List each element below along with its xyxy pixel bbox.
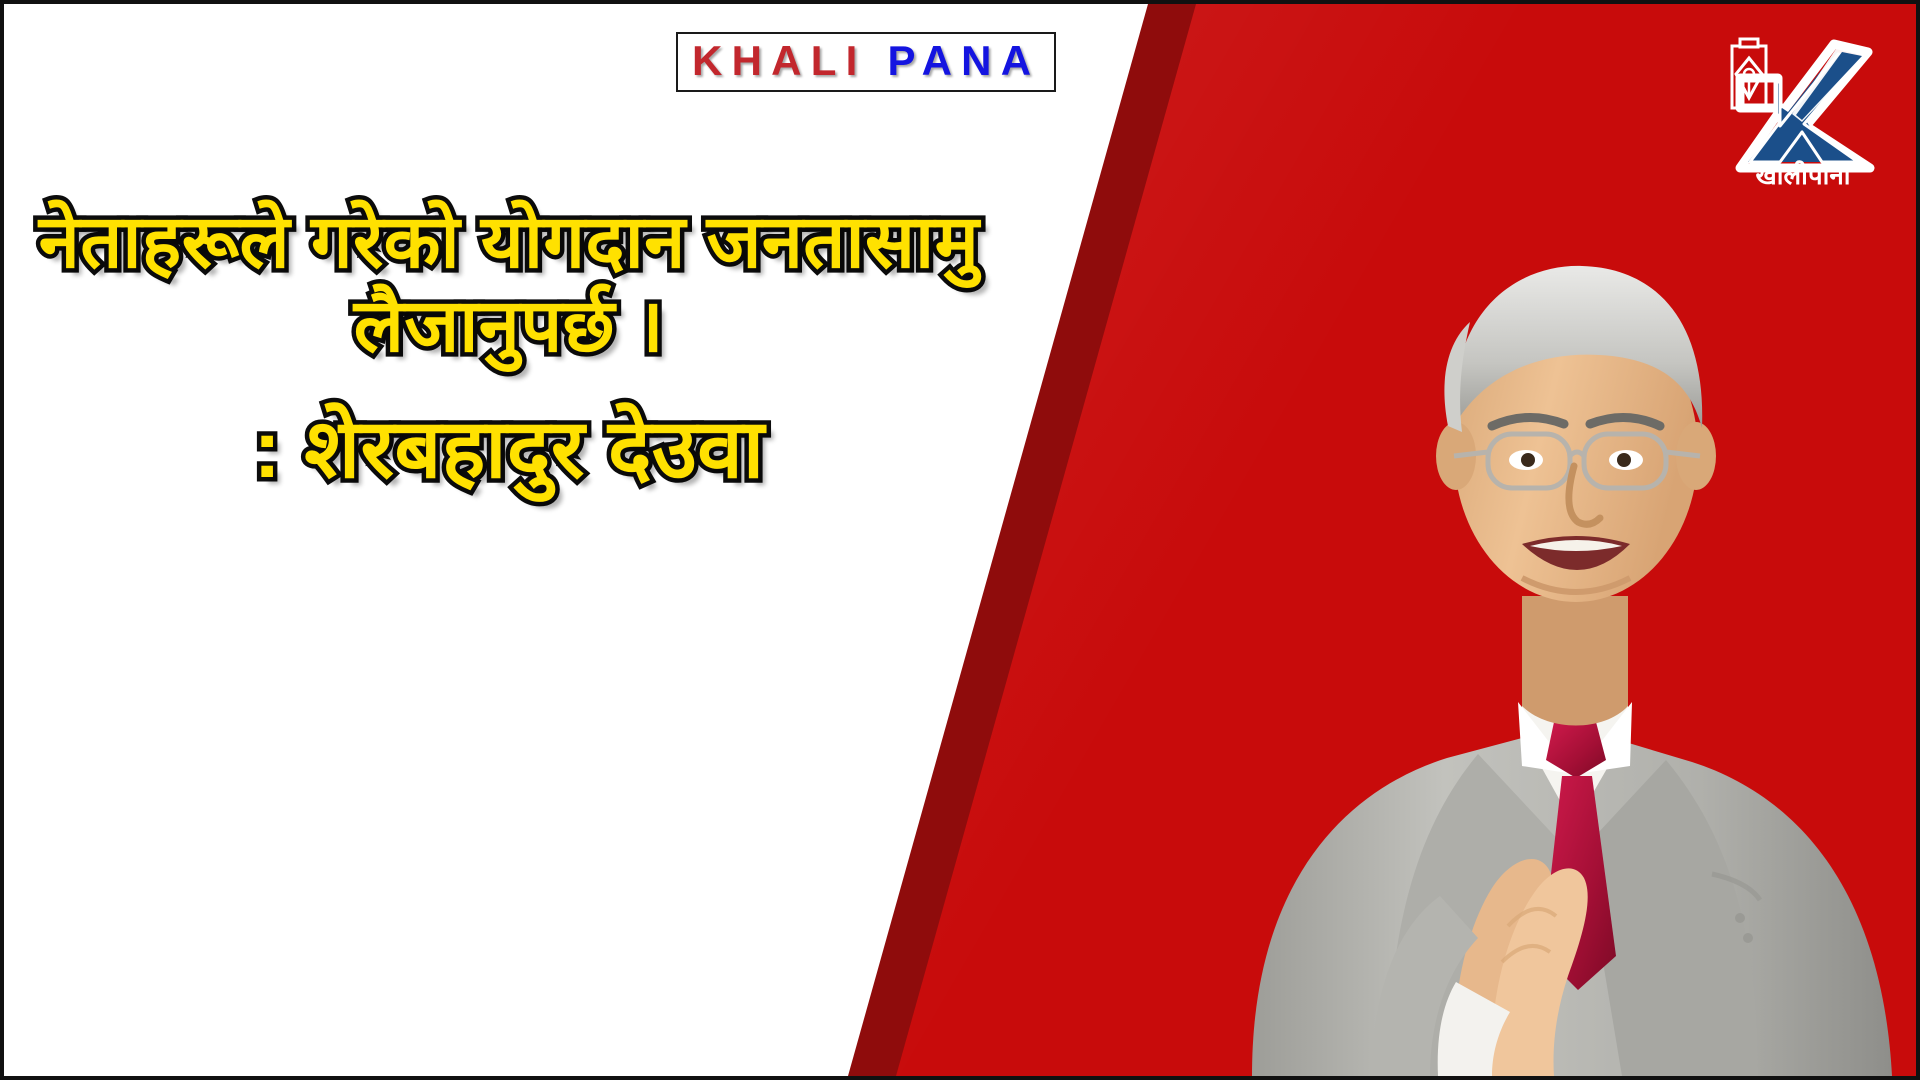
wordmark-pana: PANA xyxy=(887,37,1040,84)
khali-pana-wordmark: KHALI PANA xyxy=(676,32,1056,92)
logo-devanagari: खालीपाना xyxy=(1754,160,1851,190)
wordmark-khali: KHALI xyxy=(692,37,867,84)
headline-line-2: लैजानुपर्छ । xyxy=(4,284,1014,368)
headline-line-3: : शेरबहादुर देउवा xyxy=(4,403,1014,496)
headline-block: नेताहरूले गरेको योगदान जनतासामु लैजानुपर… xyxy=(4,200,1014,496)
news-graphic-card: KHALI PANA खालीपा xyxy=(0,0,1920,1080)
headline-line-1: नेताहरूले गरेको योगदान जनतासामु xyxy=(4,200,1014,284)
headline-line-2-text: लैजानुपर्छ । xyxy=(4,284,1014,368)
headline-line-3-text: : शेरबहादुर देउवा xyxy=(4,403,1014,496)
politician-portrait xyxy=(1192,126,1912,1076)
headline-line-1-text: नेताहरूले गरेको योगदान जनतासामु xyxy=(4,200,1014,284)
khalipana-logo[interactable]: खालीपाना xyxy=(1718,22,1888,190)
